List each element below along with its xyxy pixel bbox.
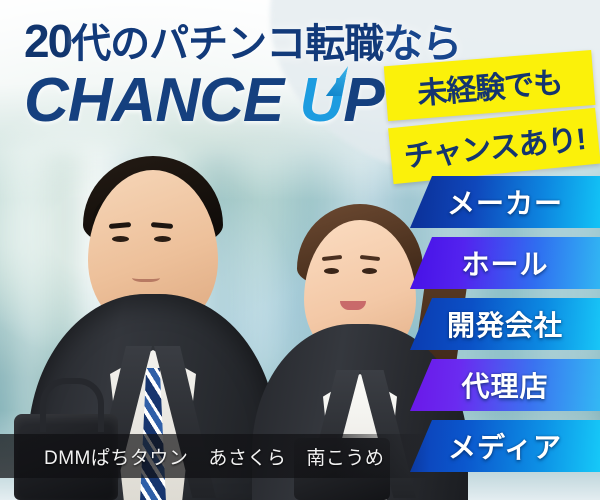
headline: 20代のパチンコ転職なら	[24, 18, 461, 64]
headline-number: 20	[24, 15, 71, 67]
logo-letter-u: U	[299, 70, 343, 132]
caption-text: DMMぱちタウンあさくら南こうめ	[0, 443, 384, 470]
category-button-hall[interactable]: ホール	[410, 237, 600, 289]
man-eye-right	[154, 236, 171, 242]
category-button-agency[interactable]: 代理店	[410, 359, 600, 411]
caption-site-name: DMMぱちタウン	[44, 448, 188, 469]
man-eye-left	[112, 236, 129, 242]
logo-chance-up: CHANCE UP	[24, 70, 384, 132]
man-mouth	[132, 272, 160, 282]
headline-tail: なら	[383, 22, 461, 66]
advertisement-banner[interactable]: 20代のパチンコ転職なら CHANCE UP 未経験でも チャンスあり! メーカ…	[0, 0, 600, 500]
logo-word-chance: CHANCE	[24, 66, 283, 135]
woman-eye-left	[324, 268, 339, 274]
promo-badge: 未経験でも チャンスあり!	[384, 50, 600, 182]
category-list: メーカー ホール 開発会社 代理店 メディア	[410, 176, 600, 481]
caption-person-2: 南こうめ	[306, 448, 384, 469]
logo-letter-p: P	[343, 66, 383, 135]
woman-eye-right	[362, 268, 377, 274]
caption-bar: DMMぱちタウンあさくら南こうめ	[0, 434, 430, 478]
caption-person-1: あさくら	[208, 448, 286, 469]
category-button-developer[interactable]: 開発会社	[410, 298, 600, 350]
category-button-media[interactable]: メディア	[410, 420, 600, 472]
headline-middle: 代のパチンコ転職	[71, 22, 383, 66]
category-button-maker[interactable]: メーカー	[410, 176, 600, 228]
